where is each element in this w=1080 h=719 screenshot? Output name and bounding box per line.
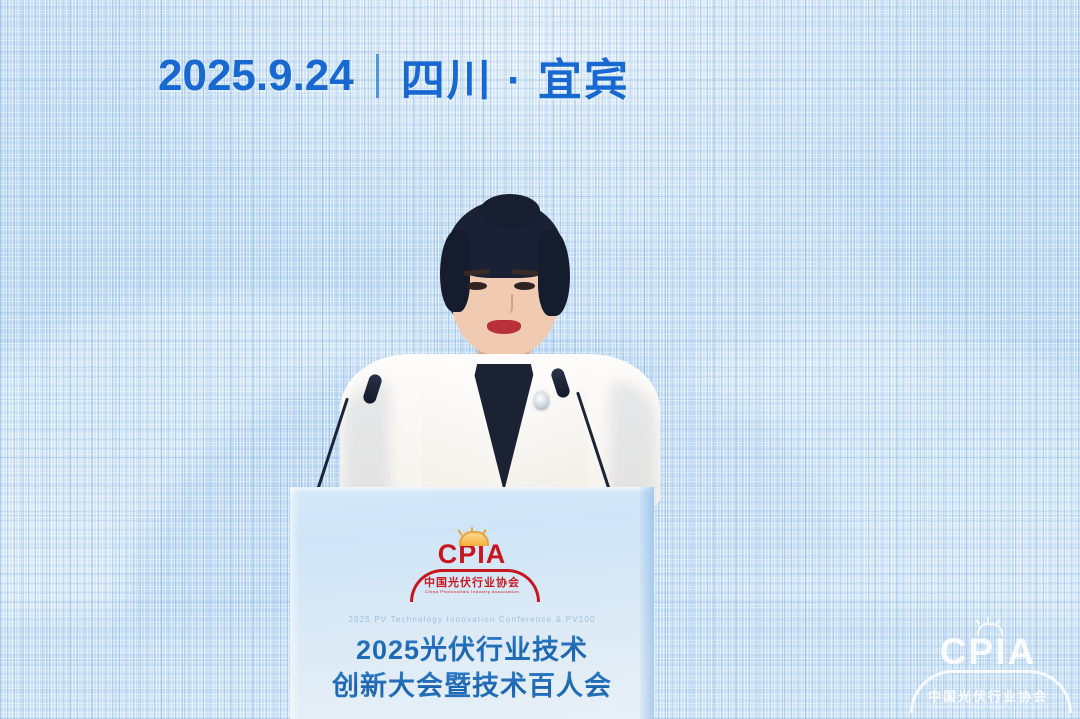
- cpia-english-name: China Photovoltaic Industry Association: [397, 589, 547, 594]
- speaker-eye-right: [514, 282, 535, 290]
- watermark-sun-icon: [908, 620, 1068, 633]
- speaker-figure: [330, 196, 670, 506]
- cpia-chinese-name: 中国光伏行业协会: [397, 577, 547, 589]
- conference-title-cn: 2025光伏行业技术 创新大会暨技术百人会: [290, 633, 654, 704]
- watermark-arc: [908, 670, 1068, 690]
- speaker-brooch: [534, 392, 549, 410]
- event-headline: 2025.9.24 四川 · 宜宾: [158, 44, 630, 108]
- speaker-hair-bun: [480, 194, 540, 228]
- event-location: 四川 · 宜宾: [401, 44, 630, 108]
- watermark-chinese-name: 中国光伏行业协会: [908, 690, 1068, 705]
- cpia-logo-podium: CPIA 中国光伏行业协会 China Photovoltaic Industr…: [397, 529, 547, 594]
- event-date: 2025.9.24: [158, 51, 354, 101]
- speaker-mouth: [487, 320, 521, 334]
- podium-top-highlight: [290, 487, 654, 493]
- conference-subtitle-en: 2025 PV Technology Innovation Conference…: [290, 615, 654, 624]
- conference-title-line-1: 2025光伏行业技术: [290, 633, 654, 669]
- sun-icon: [397, 529, 547, 543]
- speaker-hair-side-right: [538, 230, 570, 316]
- headline-separator: [376, 54, 379, 98]
- speaker-nose: [497, 294, 513, 314]
- speaker-eye-left: [466, 282, 487, 290]
- conference-photo-stage: 2025.9.24 四川 · 宜宾: [0, 0, 1080, 719]
- podium-panel: CPIA 中国光伏行业协会 China Photovoltaic Industr…: [290, 487, 654, 719]
- watermark-english-name: China Photovoltaic Industry Association: [908, 705, 1068, 711]
- cpia-watermark: CPIA 中国光伏行业协会 China Photovoltaic Industr…: [908, 620, 1068, 711]
- conference-title-line-2: 创新大会暨技术百人会: [290, 669, 654, 705]
- watermark-acronym: CPIA: [908, 633, 1068, 670]
